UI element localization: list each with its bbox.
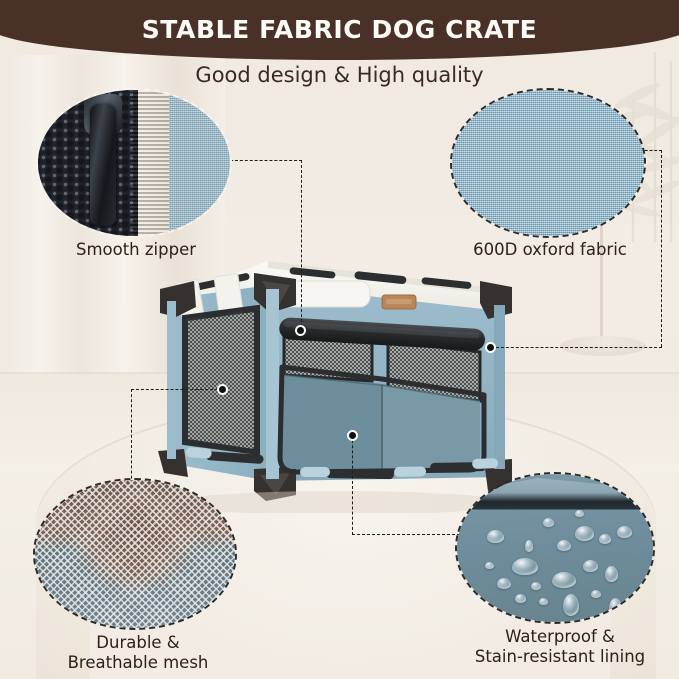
oxford-swatch-image: [452, 90, 644, 236]
callout-waterproof-lining: Waterproof & Stain-resistant lining: [455, 472, 665, 668]
connector-zipper-vertical: [301, 160, 302, 332]
zipper-closeup-image: [38, 90, 230, 236]
connector-water-horizontal: [352, 534, 470, 535]
callout-smooth-zipper: Smooth zipper: [36, 88, 236, 268]
callout-breathable-mesh: Durable & Breathable mesh: [33, 478, 243, 668]
connector-zipper-horizontal: [230, 160, 302, 161]
product-feature-image: STABLE FABRIC DOG CRATE Good design & Hi…: [0, 0, 679, 679]
connector-mesh-horizontal: [131, 389, 223, 390]
callout-oxford-bubble: [450, 88, 646, 238]
connector-dot-oxford: [485, 342, 496, 353]
callout-water-bubble: [455, 472, 655, 624]
callout-label-zipper: Smooth zipper: [36, 240, 236, 260]
callout-label-oxford: 600D oxford fabric: [450, 240, 650, 260]
connector-dot-zipper: [295, 325, 306, 336]
water-droplets-image: [457, 474, 653, 622]
connector-dot-mesh: [217, 384, 228, 395]
page-subtitle: Good design & High quality: [0, 63, 679, 87]
connector-oxford-vertical: [661, 150, 662, 347]
connector-dot-waterproof: [347, 430, 358, 441]
callout-label-mesh-line2: Breathable mesh: [33, 653, 243, 673]
connector-oxford-horizontal-bottom: [496, 347, 662, 348]
callout-oxford-fabric: 600D oxford fabric: [450, 88, 650, 268]
connector-water-vertical: [352, 435, 353, 535]
floor-lamp-base: [560, 336, 646, 356]
callout-mesh-bubble: [33, 478, 237, 630]
callout-label-water-line2: Stain-resistant lining: [455, 647, 665, 667]
callout-label-mesh-line1: Durable &: [33, 633, 243, 653]
page-title: STABLE FABRIC DOG CRATE: [0, 0, 679, 58]
mesh-closeup-image: [35, 480, 235, 628]
callout-label-water-line1: Waterproof &: [455, 627, 665, 647]
callout-zipper-bubble: [36, 88, 232, 238]
